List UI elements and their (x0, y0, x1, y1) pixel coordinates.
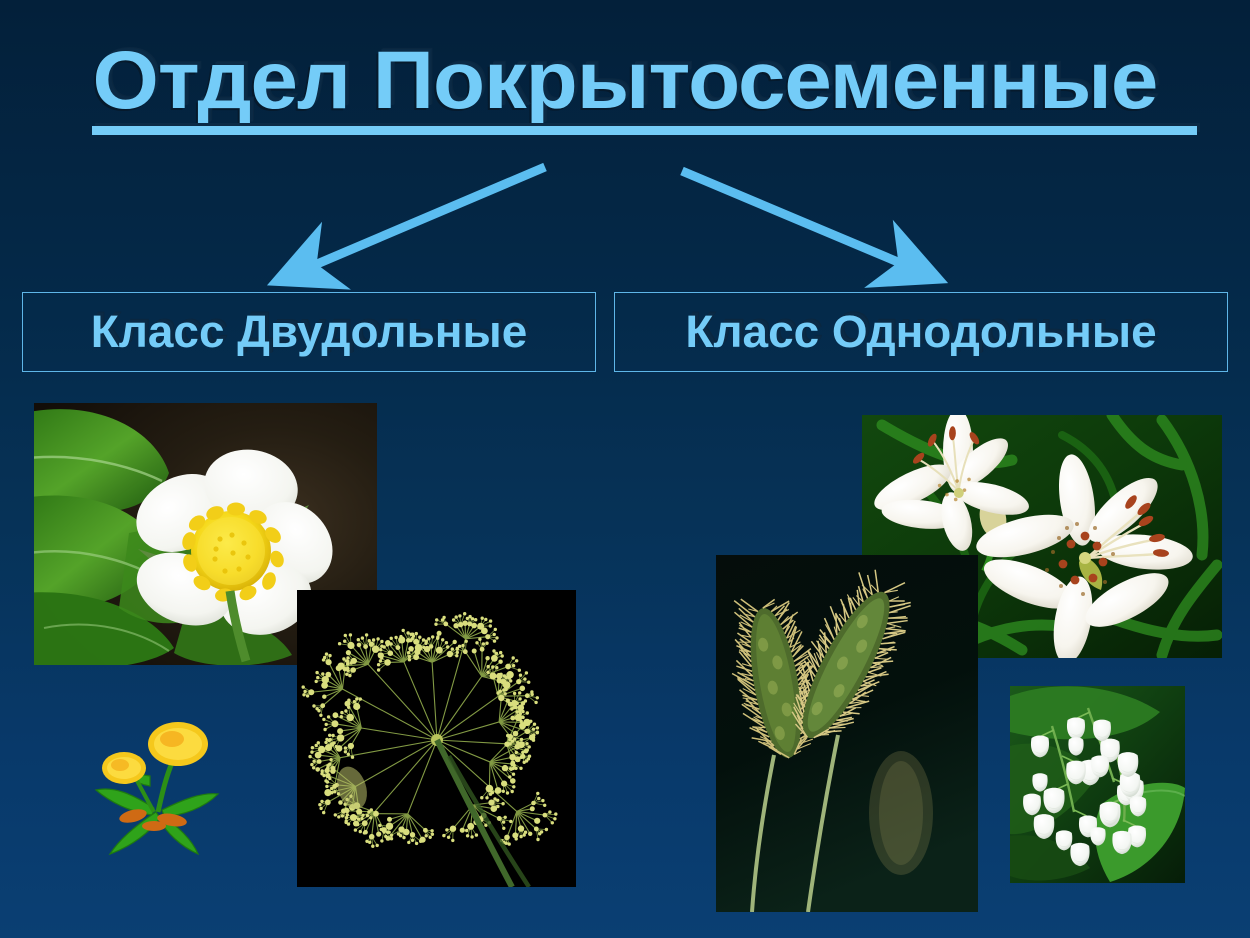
class-box-monocot-label: Класс Однодольные (685, 306, 1156, 358)
title-underline (92, 126, 1197, 135)
slide: Отдел Покрытосеменные Класс Двудольные К… (0, 0, 1250, 938)
class-box-dicot-label: Класс Двудольные (91, 306, 528, 358)
marigold-clipart (88, 716, 222, 856)
page-title-wrap: Отдел Покрытосеменные (0, 38, 1250, 130)
arrow-to-monocot (682, 171, 905, 265)
foxtail-grass-photo (716, 555, 978, 912)
class-box-dicot[interactable]: Класс Двудольные (22, 292, 596, 372)
class-box-monocot[interactable]: Класс Однодольные (614, 292, 1228, 372)
arrow-to-dicot (310, 167, 545, 267)
page-title: Отдел Покрытосеменные (86, 38, 1163, 130)
lily-of-the-valley-photo (1010, 686, 1185, 883)
dill-umbel-photo (297, 590, 576, 887)
arrows-group (0, 150, 1250, 300)
